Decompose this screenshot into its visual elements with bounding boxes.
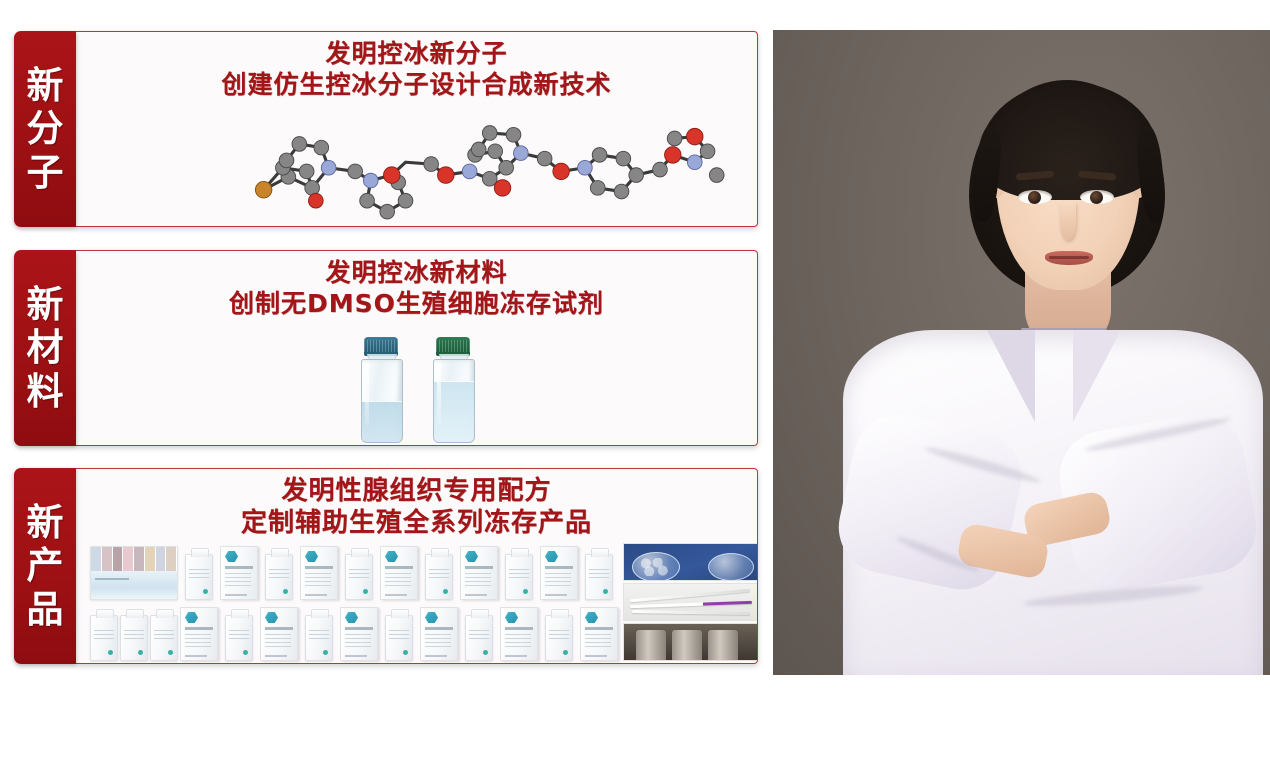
panel-title-line2: 定制辅助生殖全系列冻存产品: [76, 507, 757, 539]
product-bottle: [300, 615, 338, 661]
vial-green-cap: [430, 337, 476, 441]
product-bottle: [340, 554, 378, 600]
product-grid: [90, 542, 618, 661]
product-bottle: [220, 615, 258, 661]
cryo-straw: [632, 610, 750, 615]
tab-new-molecule[interactable]: 新 分 子: [14, 31, 76, 227]
panel-new-product[interactable]: 新 产 品 发明性腺组织专用配方 定制辅助生殖全系列冻存产品: [14, 468, 758, 664]
dish-multiwell: [632, 552, 680, 581]
iris-right: [1090, 191, 1103, 204]
panel-new-molecule[interactable]: 新 分 子 发明控冰新分子 创建仿生控冰分子设计合成新技术: [14, 31, 758, 227]
cryo-straw: [630, 601, 752, 608]
tab-char: 品: [27, 589, 64, 630]
panel-title: 发明控冰新材料 创制无DMSO生殖细胞冻存试剂: [76, 257, 757, 319]
product-bottle: [540, 615, 578, 661]
vial-highlight: [365, 363, 369, 425]
kit-vial: [102, 547, 113, 571]
tab-new-material[interactable]: 新 材 料: [14, 250, 76, 446]
product-box: [500, 607, 538, 661]
product-photo-column: [623, 543, 758, 661]
kit-vial: [123, 547, 134, 571]
product-box: [420, 607, 458, 661]
tab-char: 新: [27, 502, 64, 543]
product-box: [260, 607, 298, 661]
product-box: [380, 546, 418, 600]
kit-vial: [156, 547, 167, 571]
tab-char: 新: [27, 284, 64, 325]
cryo-vials-image: [76, 329, 757, 441]
product-lineup-image: [76, 539, 757, 661]
product-box: [220, 546, 258, 600]
cryo-tank: [672, 630, 702, 660]
product-box: [540, 546, 578, 600]
card-new-molecule: 发明控冰新分子 创建仿生控冰分子设计合成新技术: [76, 31, 758, 227]
panel-title: 发明性腺组织专用配方 定制辅助生殖全系列冻存产品: [76, 475, 757, 539]
panel-title-line2: 创建仿生控冰分子设计合成新技术: [76, 69, 757, 100]
product-bottle: [420, 554, 458, 600]
lab-coat-collar-left: [987, 330, 1035, 422]
researcher-portrait-photo: [773, 30, 1270, 675]
cryo-tank-photo: [623, 623, 758, 661]
nose: [1060, 202, 1076, 240]
tab-char: 新: [27, 65, 64, 106]
card-new-product: 发明性腺组织专用配方 定制辅助生殖全系列冻存产品: [76, 468, 758, 664]
kit-vial: [113, 547, 124, 571]
eye-left: [1018, 190, 1052, 204]
product-box: [300, 546, 338, 600]
kit-vial: [91, 547, 102, 571]
product-box: [580, 607, 618, 661]
hair-front: [979, 82, 1159, 200]
kit-vial: [145, 547, 156, 571]
product-bottle: [150, 615, 178, 661]
panel-title: 发明控冰新分子 创建仿生控冰分子设计合成新技术: [76, 38, 757, 100]
petri-dish-photo: [623, 543, 758, 581]
dish-lid: [708, 553, 754, 581]
mouth: [1045, 251, 1093, 265]
product-bottle: [90, 615, 118, 661]
cryo-straws-photo: [623, 583, 758, 621]
tab-char: 料: [27, 371, 64, 412]
lab-coat-collar-right: [1073, 330, 1121, 422]
product-box: [460, 546, 498, 600]
eye-right: [1080, 190, 1114, 204]
vial-highlight: [437, 363, 441, 425]
tab-char: 材: [27, 327, 64, 368]
molecule-structure-image: [76, 106, 757, 224]
kit-label: [91, 571, 177, 599]
product-bottle: [120, 615, 148, 661]
panel-title-line1: 发明控冰新分子: [76, 38, 757, 69]
cryo-tank: [708, 630, 738, 660]
tab-char: 子: [27, 152, 64, 193]
product-bottle: [500, 554, 538, 600]
product-bottle: [380, 615, 418, 661]
card-new-material: 发明控冰新材料 创制无DMSO生殖细胞冻存试剂: [76, 250, 758, 446]
tab-new-product[interactable]: 新 产 品: [14, 468, 76, 664]
atoms: [255, 126, 724, 219]
tab-char: 分: [27, 108, 64, 149]
product-bottle: [180, 554, 218, 600]
product-kit-box: [90, 546, 178, 600]
cryo-straw: [630, 589, 750, 602]
product-box: [180, 607, 218, 661]
vial-blue-cap: [358, 337, 404, 441]
molecule-svg: [76, 106, 757, 224]
panel-title-line1: 发明控冰新材料: [76, 257, 757, 288]
iris-left: [1028, 191, 1041, 204]
kit-vial-strip: [91, 547, 177, 571]
product-bottle: [260, 554, 298, 600]
kit-vial: [134, 547, 145, 571]
product-box: [340, 607, 378, 661]
panel-column: 新 分 子 发明控冰新分子 创建仿生控冰分子设计合成新技术: [0, 0, 772, 757]
panel-title-line2: 创制无DMSO生殖细胞冻存试剂: [76, 288, 757, 319]
panel-title-line1: 发明性腺组织专用配方: [76, 475, 757, 507]
panel-new-material[interactable]: 新 材 料 发明控冰新材料 创制无DMSO生殖细胞冻存试剂: [14, 250, 758, 446]
cryo-tank: [636, 630, 666, 660]
kit-vial: [166, 547, 177, 571]
product-bottle: [460, 615, 498, 661]
product-bottle: [580, 554, 618, 600]
tab-char: 产: [27, 545, 64, 586]
